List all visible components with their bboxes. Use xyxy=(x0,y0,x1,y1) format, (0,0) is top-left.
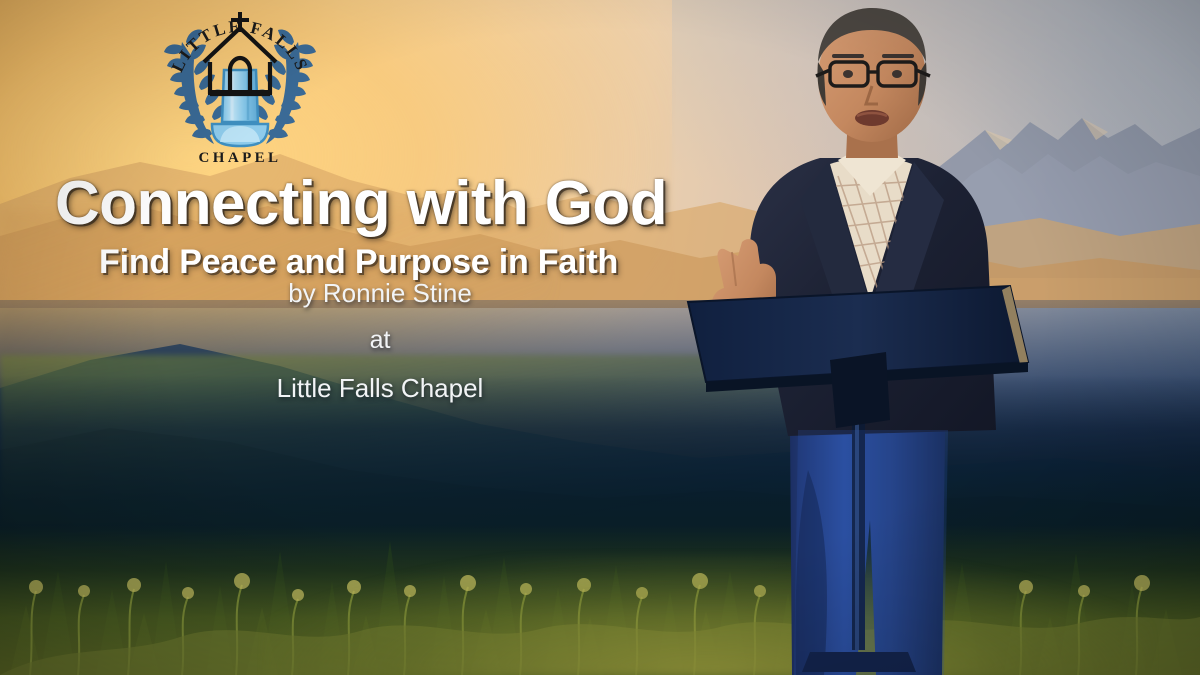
chapel-logo: LITTLE FALLS xyxy=(152,2,328,170)
byline-author: by Ronnie Stine xyxy=(0,280,760,306)
page-title: Connecting with God xyxy=(55,172,755,235)
page-subtitle: Find Peace and Purpose in Faith xyxy=(99,243,755,282)
byline-block: by Ronnie Stine at Little Falls Chapel xyxy=(0,280,760,423)
sermon-title-card: LITTLE FALLS xyxy=(0,0,1200,675)
headline-block: Connecting with God Find Peace and Purpo… xyxy=(55,172,755,282)
byline-connector: at xyxy=(0,328,760,353)
byline-venue: Little Falls Chapel xyxy=(0,375,760,401)
logo-bottom-text: CHAPEL xyxy=(199,150,282,166)
